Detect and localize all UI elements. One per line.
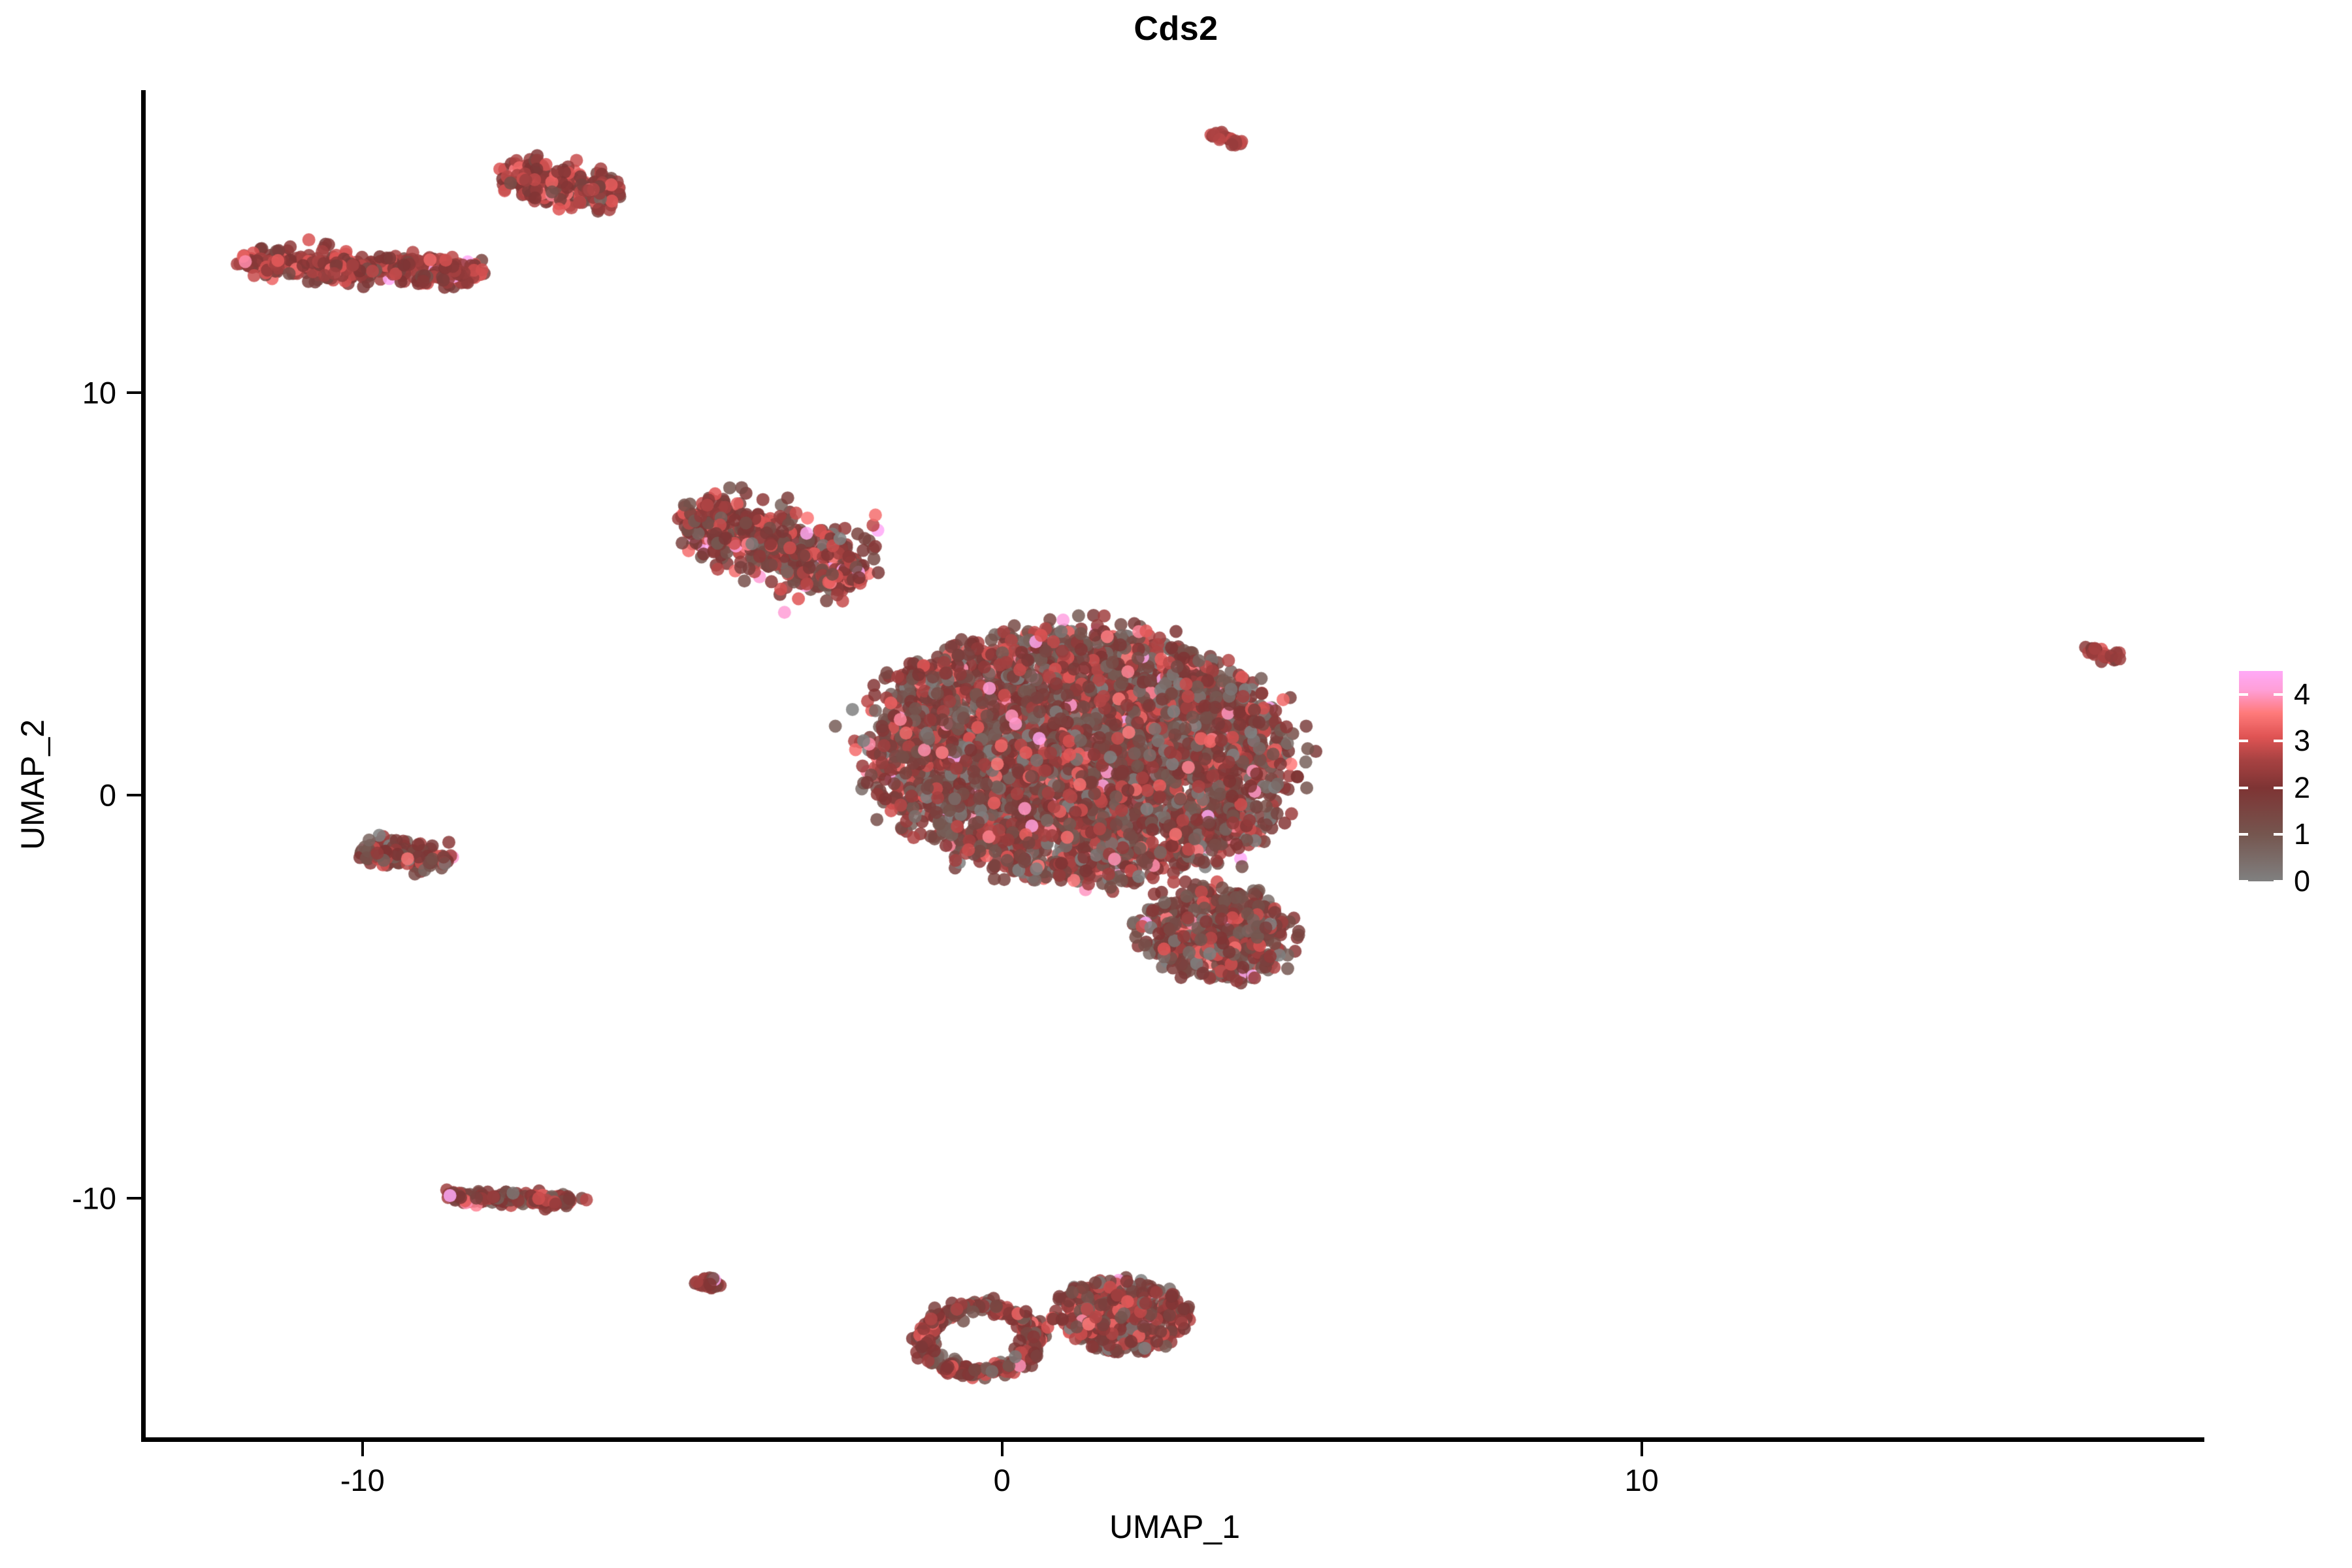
colorbar-tick-mark bbox=[2274, 833, 2283, 836]
colorbar-tick-label: 2 bbox=[2294, 771, 2310, 805]
colorbar-tick-label: 0 bbox=[2294, 864, 2310, 898]
plot-root: Cds2 -10010 100-10 UMAP_1 UMAP_2 43210 bbox=[0, 0, 2352, 1568]
y-tick-mark bbox=[127, 1197, 141, 1200]
colorbar-tick-label: 1 bbox=[2294, 817, 2310, 851]
x-tick-mark bbox=[1001, 1442, 1004, 1456]
x-tick-label: 10 bbox=[1624, 1462, 1658, 1498]
colorbar-tick-mark bbox=[2239, 693, 2248, 696]
scatter-canvas bbox=[145, 90, 2204, 1440]
y-tick-label: 0 bbox=[99, 777, 116, 813]
x-axis-label: UMAP_1 bbox=[145, 1508, 2204, 1546]
colorbar-tick-mark bbox=[2239, 880, 2248, 883]
colorbar-legend: 43210 bbox=[2239, 671, 2344, 881]
y-axis-line bbox=[141, 90, 146, 1442]
colorbar-tick-mark bbox=[2274, 787, 2283, 789]
colorbar-tick-label: 4 bbox=[2294, 678, 2310, 711]
colorbar-tick-label: 3 bbox=[2294, 724, 2310, 758]
colorbar-tick-mark bbox=[2274, 880, 2283, 883]
colorbar-gradient bbox=[2239, 671, 2283, 881]
y-axis-label: UMAP_2 bbox=[14, 654, 52, 915]
colorbar-tick-mark bbox=[2239, 833, 2248, 836]
colorbar-tick-mark bbox=[2274, 693, 2283, 696]
x-axis-line bbox=[141, 1437, 2204, 1442]
colorbar-tick-mark bbox=[2274, 740, 2283, 742]
y-tick-mark bbox=[127, 794, 141, 796]
x-tick-mark bbox=[1641, 1442, 1643, 1456]
x-tick-label: 0 bbox=[994, 1462, 1011, 1498]
y-tick-label: -10 bbox=[72, 1180, 116, 1216]
x-tick-mark bbox=[361, 1442, 364, 1456]
y-tick-mark bbox=[127, 391, 141, 394]
plot-panel bbox=[145, 90, 2204, 1440]
y-tick-label: 10 bbox=[82, 374, 116, 410]
colorbar-tick-mark bbox=[2239, 787, 2248, 789]
x-tick-label: -10 bbox=[340, 1462, 385, 1498]
colorbar-tick-mark bbox=[2239, 740, 2248, 742]
page-title: Cds2 bbox=[0, 9, 2352, 48]
